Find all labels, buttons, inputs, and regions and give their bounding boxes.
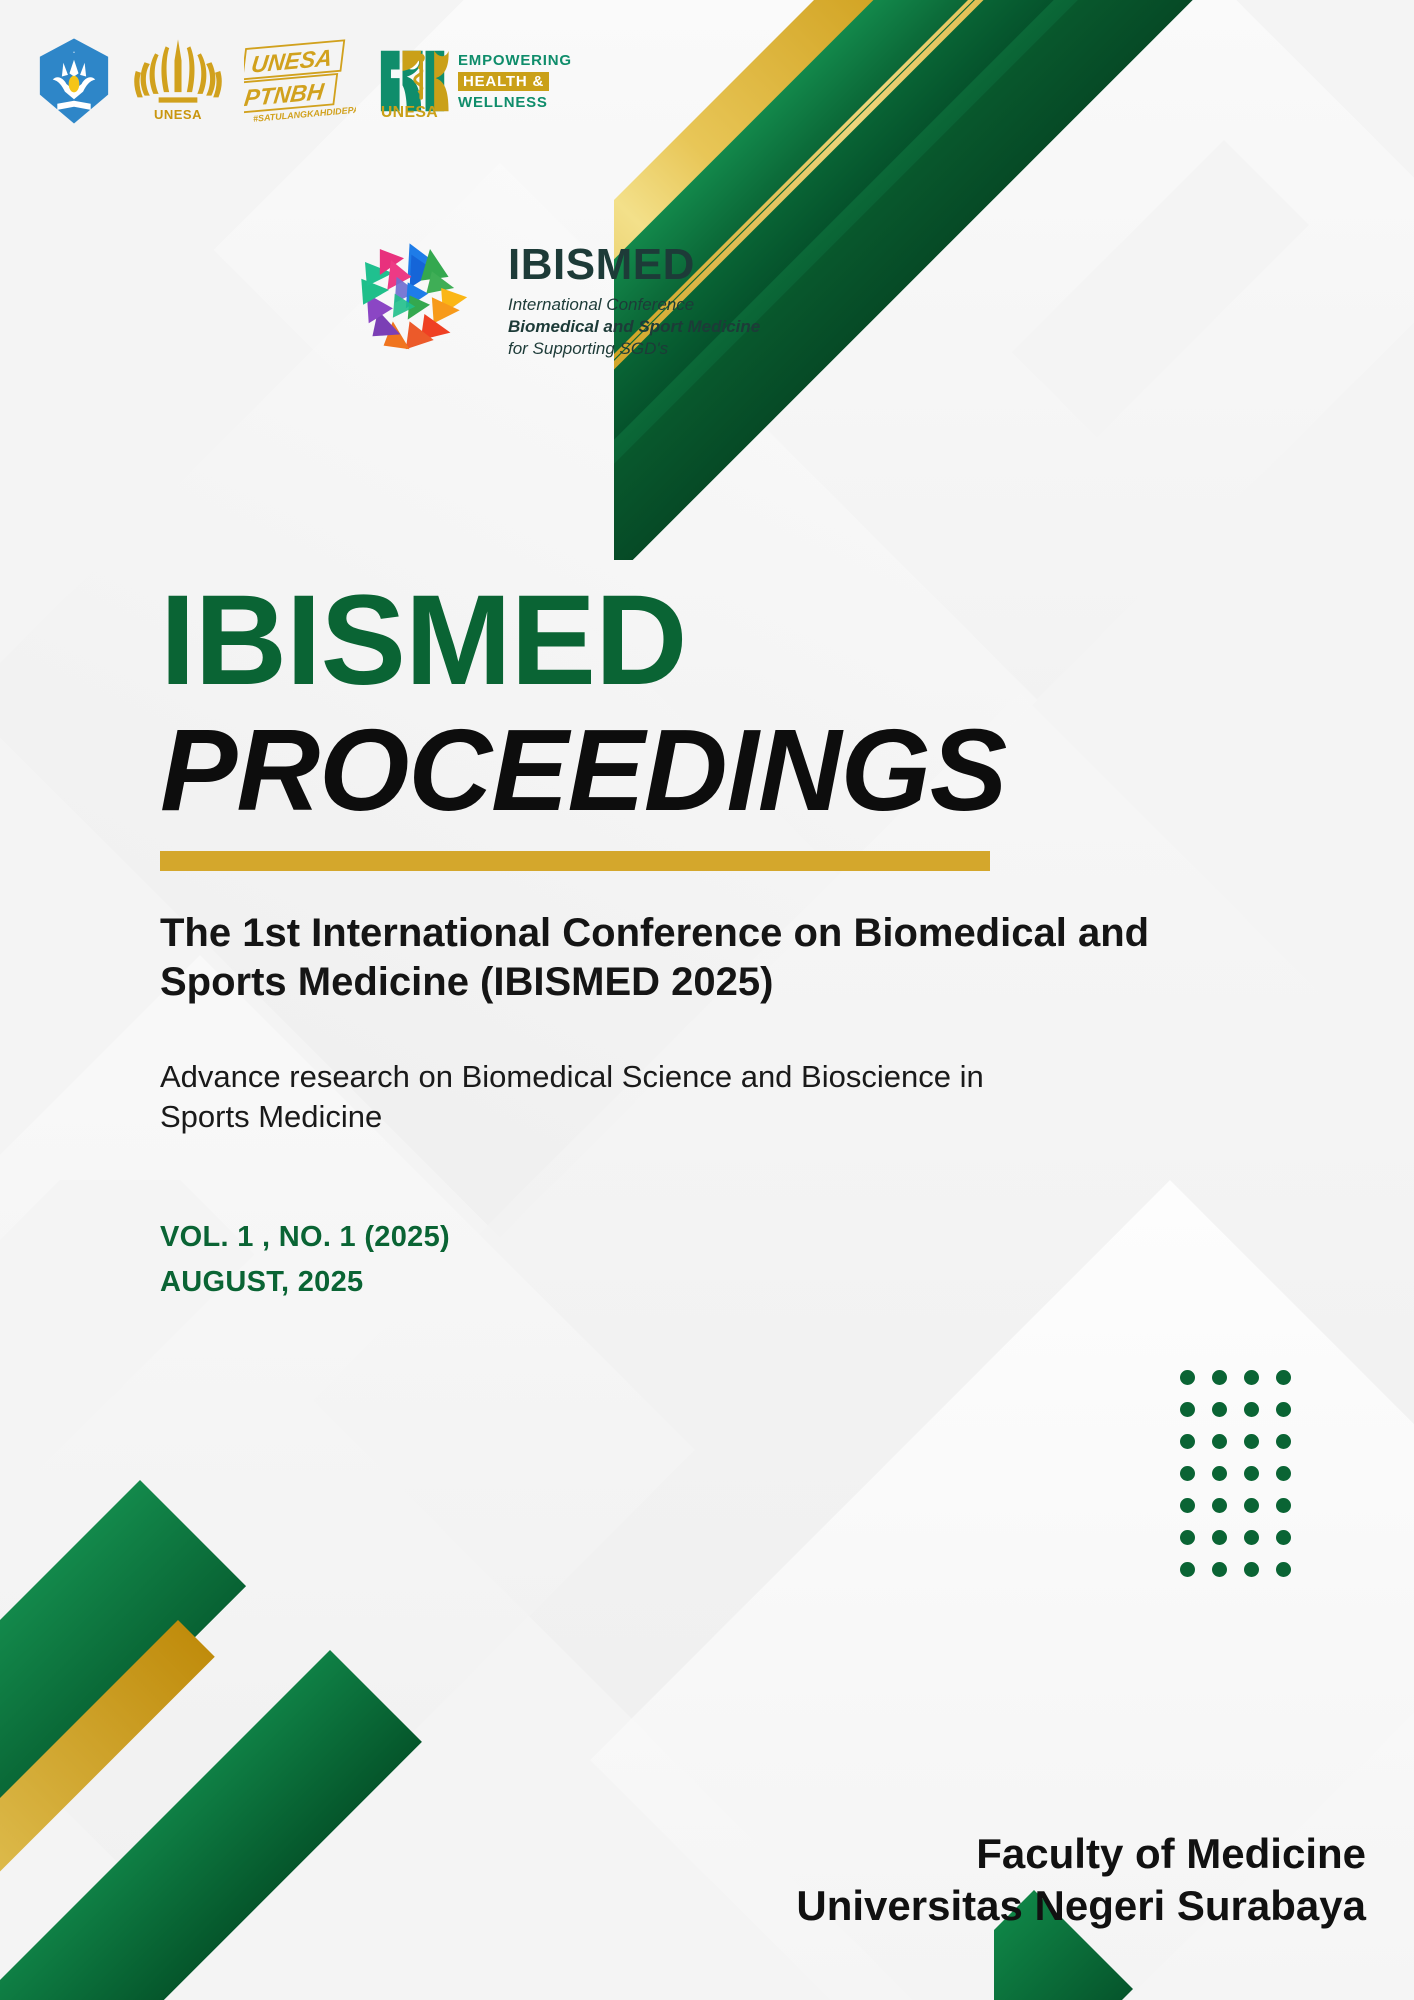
grid-dot	[1244, 1530, 1259, 1545]
volume-info-block: VOL. 1 , NO. 1 (2025) AUGUST, 2025	[160, 1215, 1260, 1305]
publication-date: AUGUST, 2025	[160, 1260, 1260, 1305]
ibismed-event-logo: IBISMED International Conference Biomedi…	[352, 236, 760, 366]
fk-slogan-line2: HEALTH &	[458, 72, 549, 91]
publisher-faculty: Faculty of Medicine	[796, 1828, 1366, 1880]
header-logo-strip: UNESA UNESA PTNBH #SATULANGKAHDIDEPAN	[36, 36, 572, 126]
unesa-ptnbh-logo: UNESA PTNBH #SATULANGKAHDIDEPAN	[244, 39, 356, 123]
gold-divider-rule	[160, 851, 990, 871]
grid-dot	[1212, 1530, 1227, 1545]
grid-dot	[1212, 1562, 1227, 1577]
page-title-secondary: PROCEEDINGS	[160, 711, 1260, 829]
volume-number: VOL. 1 , NO. 1 (2025)	[160, 1215, 1260, 1260]
grid-dot	[1276, 1402, 1291, 1417]
grid-dot	[1180, 1402, 1195, 1417]
event-logo-name: IBISMED	[508, 242, 760, 288]
grid-dot	[1180, 1434, 1195, 1449]
svg-text:UNESA: UNESA	[381, 104, 438, 119]
page-title-primary: IBISMED	[160, 580, 1260, 703]
grid-dot	[1276, 1498, 1291, 1513]
grid-dot	[1244, 1498, 1259, 1513]
grid-dot	[1212, 1498, 1227, 1513]
conference-description: Advance research on Biomedical Science a…	[160, 1057, 1060, 1138]
fk-slogan-line3: WELLNESS	[458, 94, 572, 111]
grid-dot	[1244, 1434, 1259, 1449]
grid-dot	[1244, 1562, 1259, 1577]
grid-dot	[1180, 1562, 1195, 1577]
grid-dot	[1276, 1562, 1291, 1577]
grid-dot	[1244, 1402, 1259, 1417]
proceedings-cover: UNESA UNESA PTNBH #SATULANGKAHDIDEPAN	[0, 0, 1414, 2000]
grid-dot	[1180, 1530, 1195, 1545]
publisher-university: Universitas Negeri Surabaya	[796, 1880, 1366, 1932]
grid-dot	[1180, 1498, 1195, 1513]
fk-unesa-mark-icon: UNESA	[378, 43, 450, 119]
grid-dot	[1180, 1370, 1195, 1385]
fk-unesa-logo: UNESA EMPOWERING HEALTH & WELLNESS	[378, 43, 572, 119]
conference-title: The 1st International Conference on Biom…	[160, 909, 1220, 1007]
grid-dot	[1276, 1370, 1291, 1385]
decorative-dot-grid	[1180, 1370, 1308, 1594]
grid-dot	[1212, 1370, 1227, 1385]
publisher-footer: Faculty of Medicine Universitas Negeri S…	[796, 1828, 1366, 1932]
event-logo-line2: Biomedical and Sport Medicine	[508, 316, 760, 338]
grid-dot	[1212, 1466, 1227, 1481]
event-logo-line3: for Supporting SGD's	[508, 338, 760, 360]
unesa-gold-caption: UNESA	[154, 107, 202, 122]
pinwheel-logo-icon	[352, 236, 482, 366]
grid-dot	[1212, 1434, 1227, 1449]
event-logo-line1: International Conference	[508, 294, 760, 316]
cover-main-content: IBISMED PROCEEDINGS The 1st Internationa…	[160, 580, 1260, 1305]
grid-dot	[1276, 1434, 1291, 1449]
fk-slogan-line1: EMPOWERING	[458, 52, 572, 69]
grid-dot	[1276, 1530, 1291, 1545]
grid-dot	[1276, 1466, 1291, 1481]
tut-wuri-handayani-logo	[36, 37, 112, 125]
grid-dot	[1212, 1402, 1227, 1417]
grid-dot	[1244, 1466, 1259, 1481]
unesa-gold-logo: UNESA	[134, 36, 222, 126]
grid-dot	[1244, 1370, 1259, 1385]
grid-dot	[1180, 1466, 1195, 1481]
